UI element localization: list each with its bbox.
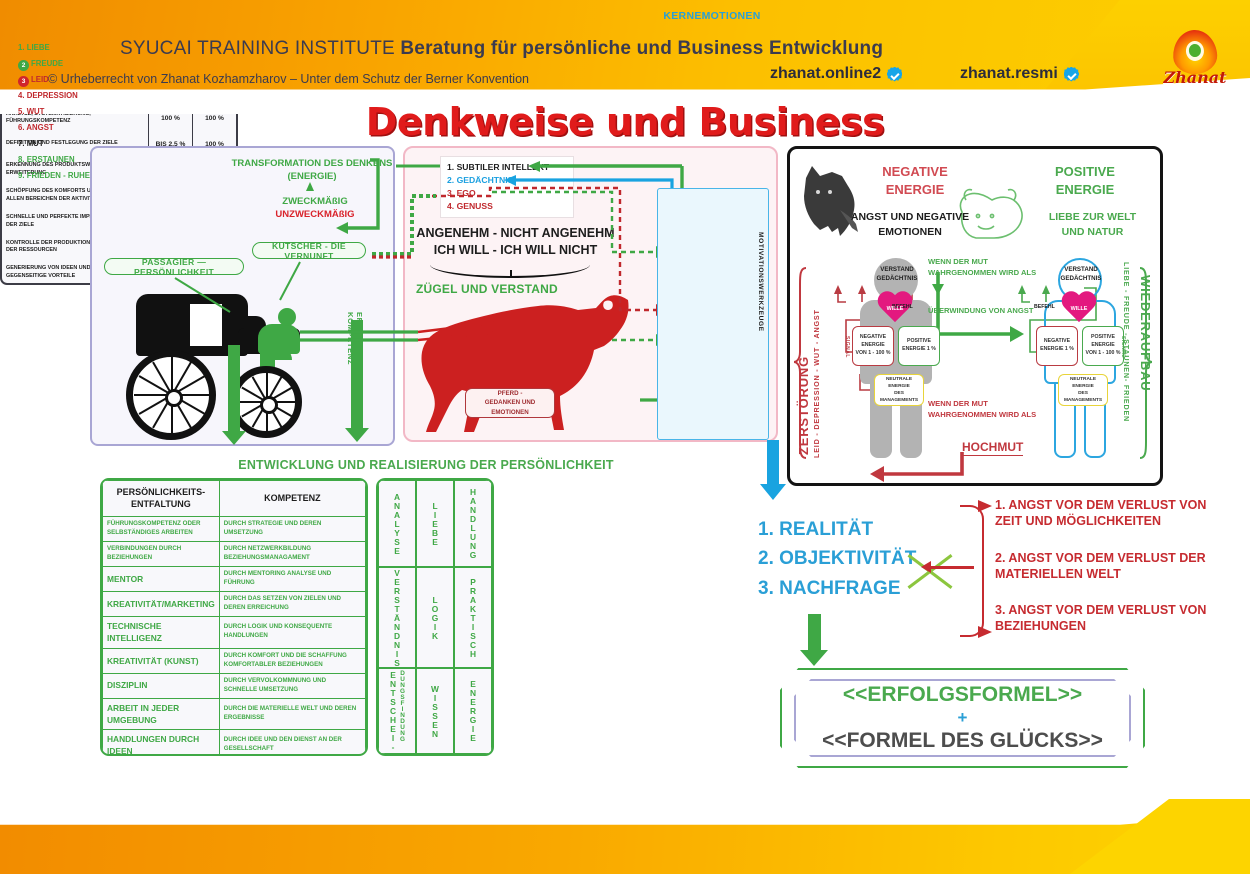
negative-body-figure: VERSTAND GEDÄCHTNIS WILLE NEGATIVE ENERG… bbox=[848, 258, 944, 458]
negative-energy-box-right: NEGATIVE ENERGIE 1 % bbox=[1036, 326, 1078, 366]
note-ueberwindung-angst: ÜBERWINDUNG VON ANGST bbox=[928, 305, 1056, 316]
wheel-hub bbox=[165, 389, 183, 407]
intellect-item-4: 4. GENUSS bbox=[447, 200, 567, 213]
positive-subtitle-line2: UND NATUR bbox=[1030, 225, 1155, 240]
verstand-label: VERSTAND bbox=[880, 266, 914, 273]
note-mut-wahrgenommen: WENN DER MUT WAHRGENOMMEN WIRD ALS bbox=[928, 256, 1056, 279]
intellect-item-4-num: 4. bbox=[447, 201, 454, 211]
fears-list: 1. ANGST VOR DEM VERLUST VON ZEIT UND MÖ… bbox=[995, 497, 1210, 655]
blue-down-arrow bbox=[760, 440, 786, 500]
hochmut-label: HOCHMUT bbox=[962, 440, 1023, 456]
core-emotions-title: KERNEMOTIONEN bbox=[657, 10, 767, 22]
verified-badge-icon bbox=[1064, 67, 1079, 82]
carriage-window bbox=[190, 304, 222, 346]
up-arrow-icon bbox=[306, 182, 314, 191]
social-handle-2[interactable]: zhanat.resmi bbox=[960, 65, 1079, 83]
vcell-wissen: WISSEN bbox=[416, 668, 454, 755]
social-handle-1-label: zhanat.online2 bbox=[770, 65, 881, 83]
vertical-keywords-table: ANALYSE LIEBE HANDLUNG VERSTÄNDNIS LOGIK… bbox=[376, 478, 494, 756]
vcell-energie: ENERGIE bbox=[454, 668, 492, 755]
institute-title: SYUCAI TRAINING INSTITUTE Beratung für p… bbox=[120, 38, 883, 60]
institute-tagline: Beratung für persönliche und Business En… bbox=[400, 38, 883, 59]
negative-mind-label: VERSTAND GEDÄCHTNIS bbox=[868, 266, 926, 283]
emotion-2: 2FREUDE bbox=[18, 56, 110, 72]
pferd-line1: PFERD - bbox=[498, 389, 523, 398]
table-row: VERBINDUNGEN DURCH BEZIEHUNGENDURCH NETZ… bbox=[103, 542, 366, 567]
formula-inner-box: <<ERFOLGSFORMEL>> + <<FORMEL DES GLÜCKS>… bbox=[794, 679, 1131, 757]
negative-energy-line1: NEGATIVE bbox=[855, 163, 975, 181]
emotion-2-badge: 2 bbox=[18, 60, 29, 71]
intellect-item-4-label: GENUSS bbox=[457, 201, 493, 211]
positive-energy-box-left: POSITIVE ENERGIE 1 % bbox=[898, 326, 940, 366]
emotion-3-badge: 3 bbox=[18, 76, 29, 87]
table-row: HANDLUNGEN DURCH IDEENDURCH IDEE UND DEN… bbox=[103, 729, 366, 756]
purposefulness-label: ZWECKMÄßIG UNZWECKMÄßIG bbox=[240, 196, 390, 222]
intellect-item-3-num: 3. bbox=[447, 188, 454, 198]
vcell-praktisch: PRAKTISCH bbox=[454, 567, 492, 668]
negative-subtitle-line1: ANGST UND NEGATIVE bbox=[840, 210, 980, 225]
negative-energy-line2: ENERGIE bbox=[855, 181, 975, 199]
intellect-item-3-label: EGO bbox=[457, 188, 476, 198]
angenehm-line1: ANGENEHM - NICHT ANGENEHM bbox=[408, 225, 623, 242]
institute-name: SYUCAI TRAINING INSTITUTE bbox=[120, 38, 395, 59]
emotion-4: 4. DEPRESSION bbox=[18, 88, 110, 104]
positive-energy-subtitle: LIEBE ZUR WELT UND NATUR bbox=[1030, 210, 1155, 239]
positive-energy-line2: ENERGIE bbox=[1030, 181, 1140, 199]
unzweckmaessig-label: UNZWECKMÄßIG bbox=[240, 209, 390, 222]
intellect-item-1-label: SUBTILER INTELLEKT bbox=[457, 162, 550, 172]
emotion-9: 9. FRIEDEN - RUHE bbox=[18, 168, 110, 184]
transformation-line1: TRANSFORMATION DES DENKENS bbox=[222, 158, 402, 171]
angenehm-block: ANGENEHM - NICHT ANGENEHM ICH WILL - ICH… bbox=[408, 225, 623, 259]
table-row: TECHNISCHE INTELLIGENZDURCH LOGIK UND KO… bbox=[103, 617, 366, 648]
emotion-6: 6. ANGST bbox=[18, 120, 110, 136]
principle-2: 2. OBJEKTIVITÄT bbox=[758, 544, 916, 573]
intellect-item-1: 1. SUBTILER INTELLEKT bbox=[447, 161, 567, 174]
green-down-arrow-carriage bbox=[222, 345, 246, 445]
carriage-wheel-rear bbox=[126, 350, 216, 440]
pferd-label: PFERD - GEDANKEN UND EMOTIONEN bbox=[465, 388, 555, 418]
fears-arrow-icon bbox=[930, 566, 974, 569]
vcell-entscheidungsfindung: ENTSCHEI- DUNGSFINDUNG bbox=[378, 668, 416, 755]
positive-energy-box-right: POSITIVE ENERGIE VON 1 - 100 % bbox=[1082, 326, 1124, 366]
core-emotions-box bbox=[657, 188, 769, 440]
emotion-1: 1. LIEBE bbox=[18, 40, 110, 56]
positive-subtitle-line1: LIEBE ZUR WELT bbox=[1030, 210, 1155, 225]
table-row: KREATIVITÄT (KUNST)DURCH KOMFORT UND DIE… bbox=[103, 648, 366, 673]
table-row: KREATIVITÄT/MARKETINGDURCH DAS SETZEN VO… bbox=[103, 592, 366, 617]
vcell-handlung: HANDLUNG bbox=[454, 480, 492, 567]
fear-3: 3. ANGST VOR DEM VERLUST VON BEZIEHUNGEN bbox=[995, 602, 1210, 635]
emotion-7: 7. MUT bbox=[18, 136, 110, 152]
motivationswerkzeuge-label: MOTIVATIONSWERKZEUGE bbox=[757, 232, 764, 382]
kutscher-label: KUTSCHER - DIE VERNUNFT bbox=[252, 242, 366, 259]
signal-label-neg: SIGNAL bbox=[844, 336, 850, 376]
zhanat-logo: Zhanat bbox=[1160, 30, 1230, 96]
page-title: Denkweise und Business bbox=[0, 100, 1250, 144]
neutral-energy-box: NEUTRALE ENERGIE DES MANAGEMENTS bbox=[874, 374, 924, 406]
fear-1: 1. ANGST VOR DEM VERLUST VON ZEIT UND MÖ… bbox=[995, 497, 1210, 530]
positive-energy-title: POSITIVE ENERGIE bbox=[1030, 163, 1140, 199]
competence-table-grid: PERSÖNLICHKEITS-ENTFALTUNG KOMPETENZ FÜH… bbox=[102, 480, 366, 756]
positive-body-figure: VERSTAND GEDÄCHTNIS WILLE NEGATIVE ENERG… bbox=[1032, 258, 1128, 458]
wiederaufbau-label: WIEDERAUFBAU bbox=[1138, 275, 1153, 465]
formula-happiness: <<FORMEL DES GLÜCKS>> bbox=[822, 729, 1103, 753]
formula-down-arrow bbox=[800, 614, 828, 666]
pferd-line2: GEDANKEN UND EMOTIONEN bbox=[466, 398, 554, 417]
vertical-keywords-grid: ANALYSE LIEBE HANDLUNG VERSTÄNDNIS LOGIK… bbox=[378, 480, 492, 754]
intellect-item-2-num: 2. bbox=[447, 175, 454, 185]
intellect-item-3: 3. EGO bbox=[447, 187, 567, 200]
copyright-notice: © Urheberrecht von Zhanat Kozhamzharov –… bbox=[48, 72, 529, 86]
wheel-hub bbox=[260, 396, 278, 414]
negative-energy-subtitle: ANGST UND NEGATIVE EMOTIONEN bbox=[840, 210, 980, 239]
principles-list: 1. REALITÄT 2. OBJEKTIVITÄT 3. NACHFRAGE bbox=[758, 515, 916, 603]
zuegel-label: ZÜGEL UND VERSTAND bbox=[416, 282, 558, 296]
table-header-row: PERSÖNLICHKEITS-ENTFALTUNG KOMPETENZ bbox=[103, 481, 366, 517]
transformation-label: TRANSFORMATION DES DENKENS (ENERGIE) bbox=[222, 158, 402, 184]
driver-head-icon bbox=[278, 308, 296, 326]
signal-label-pos: SIGNAL bbox=[1120, 336, 1126, 376]
green-down-arrow-kompetenz bbox=[345, 320, 369, 442]
intellect-item-1-num: 1. bbox=[447, 162, 454, 172]
intellect-list: 1. SUBTILER INTELLEKT 2. GEDÄCHTNIS 3. E… bbox=[440, 156, 574, 218]
emotion-8: 8. ERSTAUNEN bbox=[18, 152, 110, 168]
passagier-label: PASSAGIER — PERSÖNLICHKEIT bbox=[104, 258, 244, 275]
gedaechtnis-label: GEDÄCHTNIS bbox=[877, 275, 918, 282]
neutral-energy-box: NEUTRALE ENERGIE DES MANAGEMENTS bbox=[1058, 374, 1108, 406]
table-row: MENTORDURCH MENTORING ANALYSE UND FÜHRUN… bbox=[103, 567, 366, 592]
col-header-competence: KOMPETENZ bbox=[219, 481, 365, 517]
social-handle-2-label: zhanat.resmi bbox=[960, 65, 1058, 83]
poster-canvas: SYUCAI TRAINING INSTITUTE Beratung für p… bbox=[0, 0, 1250, 874]
negative-energy-box-left: NEGATIVE ENERGIE VON 1 - 100 % bbox=[852, 326, 894, 366]
principle-1: 1. REALITÄT bbox=[758, 515, 916, 544]
zerstoerung-label: ZERSTÖRUNG bbox=[796, 275, 811, 455]
positive-mind-label: VERSTAND GEDÄCHTNIS bbox=[1052, 266, 1110, 283]
wille-label: WILLE bbox=[876, 306, 914, 312]
table-row: ARBEIT IN JEDER UMGEBUNGDURCH DIE MATERI… bbox=[103, 698, 366, 729]
formula-plus: + bbox=[958, 708, 968, 728]
tables-section-title: ENTWICKLUNG UND REALISIERUNG DER PERSÖNL… bbox=[96, 458, 756, 472]
zweckmaessig-label: ZWECKMÄßIG bbox=[240, 196, 390, 209]
intellect-item-2-label: GEDÄCHTNIS bbox=[457, 175, 514, 185]
vcell-analyse: ANALYSE bbox=[378, 480, 416, 567]
fear-2: 2. ANGST VOR DEM VERLUST DER MATERIELLEN… bbox=[995, 550, 1210, 583]
social-handle-1[interactable]: zhanat.online2 bbox=[770, 65, 902, 83]
table-row: DISZIPLINDURCH VERVOLKOMMNUNG UND SCHNEL… bbox=[103, 673, 366, 698]
flame-leaf-icon bbox=[1172, 29, 1218, 75]
negative-energy-title: NEGATIVE ENERGIE bbox=[855, 163, 975, 199]
formula-success: <<ERFOLGSFORMEL>> bbox=[843, 683, 1082, 707]
competence-table: PERSÖNLICHKEITS-ENTFALTUNG KOMPETENZ FÜH… bbox=[100, 478, 368, 756]
positive-energy-line1: POSITIVE bbox=[1030, 163, 1140, 181]
heart-icon: WILLE bbox=[876, 292, 914, 326]
intellect-item-2: 2. GEDÄCHTNIS bbox=[447, 174, 567, 187]
vcell-logik: LOGIK bbox=[416, 567, 454, 668]
emotion-5: 5. WUT bbox=[18, 104, 110, 120]
footer-orange-band bbox=[0, 814, 1250, 874]
zerstoerung-sublabel: LEID - DEPRESSION - WUT - ANGST bbox=[812, 268, 821, 458]
competence-table-body: FÜHRUNGSKOMPETENZ ODER SELBSTÄNDIGES ARB… bbox=[103, 517, 366, 756]
principle-3: 3. NACHFRAGE bbox=[758, 574, 916, 603]
col-header-personality: PERSÖNLICHKEITS-ENTFALTUNG bbox=[103, 481, 220, 517]
vcell-verstaendnis: VERSTÄNDNIS bbox=[378, 567, 416, 668]
emotion-3: 3LEID bbox=[18, 72, 110, 88]
note-mut-hochmut: WENN DER MUT WAHRGENOMMEN WIRD ALS bbox=[928, 398, 1056, 421]
table-row: FÜHRUNGSKOMPETENZ ODER SELBSTÄNDIGES ARB… bbox=[103, 517, 366, 542]
formula-outer-box: <<ERFOLGSFORMEL>> + <<FORMEL DES GLÜCKS>… bbox=[780, 668, 1145, 768]
negative-subtitle-line2: EMOTIONEN bbox=[840, 225, 980, 240]
fears-brace-icon bbox=[960, 505, 984, 637]
angenehm-line2: ICH WILL - ICH WILL NICHT bbox=[408, 242, 623, 259]
heart-icon: WILLE bbox=[1060, 292, 1098, 326]
verified-badge-icon bbox=[887, 67, 902, 82]
vcell-liebe: LIEBE bbox=[416, 480, 454, 567]
core-emotions-list: 1. LIEBE 2FREUDE 3LEID 4. DEPRESSION 5. … bbox=[18, 40, 110, 184]
